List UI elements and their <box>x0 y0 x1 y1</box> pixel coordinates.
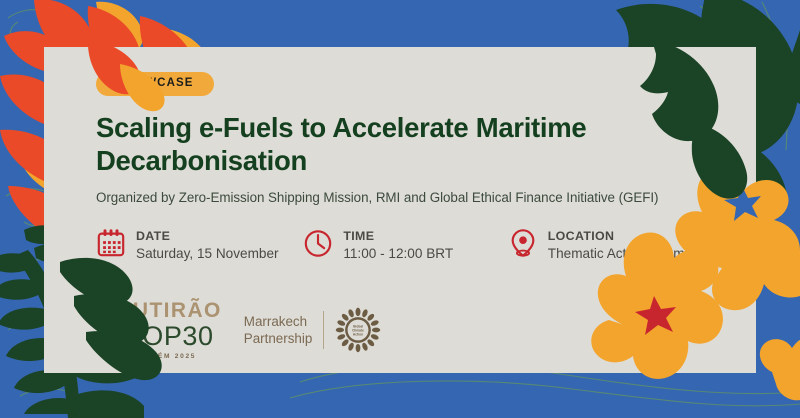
cop30-wordmark: COP30 <box>114 322 222 350</box>
marrakech-partnership-wordmark: Marrakech Partnership <box>244 313 312 347</box>
card-content: SHOWCASE Scaling e-Fuels to Accelerate M… <box>96 72 736 263</box>
marrakech-line-2: Partnership <box>244 330 312 347</box>
mutirao-wordmark: MUTIRÃO <box>114 300 222 321</box>
event-card: SHOWCASE Scaling e-Fuels to Accelerate M… <box>44 47 756 373</box>
event-date-item: DATE Saturday, 15 November <box>96 227 303 264</box>
emblem-line-3: Action <box>353 333 363 337</box>
location-pin-icon <box>508 227 538 259</box>
location-value: Thematic Action Room 4 <box>548 245 696 263</box>
time-value: 11:00 - 12:00 BRT <box>343 245 453 263</box>
belem-2025-wordmark: BELÉM 2025 <box>114 353 222 360</box>
time-label: TIME <box>343 229 453 245</box>
marrakech-line-1: Marrakech <box>244 313 312 330</box>
event-details-row: DATE Saturday, 15 November TIME 11:00 - … <box>96 227 736 264</box>
event-title: Scaling e-Fuels to Accelerate Maritime D… <box>96 111 696 177</box>
clock-icon <box>303 227 333 259</box>
calendar-icon <box>96 227 126 259</box>
event-banner: SHOWCASE Scaling e-Fuels to Accelerate M… <box>0 0 800 418</box>
event-date-text: DATE Saturday, 15 November <box>136 227 279 264</box>
event-location-item: LOCATION Thematic Action Room 4 <box>508 227 736 264</box>
showcase-badge: SHOWCASE <box>96 72 214 96</box>
date-label: DATE <box>136 229 279 245</box>
event-time-text: TIME 11:00 - 12:00 BRT <box>343 227 453 264</box>
logo-divider <box>323 311 324 349</box>
event-location-text: LOCATION Thematic Action Room 4 <box>548 227 696 264</box>
global-climate-action-emblem-icon: Global Climate Action <box>335 307 381 353</box>
event-organizers: Organized by Zero-Emission Shipping Miss… <box>96 190 736 205</box>
event-time-item: TIME 11:00 - 12:00 BRT <box>303 227 507 264</box>
cop30-logo: MUTIRÃO COP30 BELÉM 2025 <box>114 300 222 360</box>
location-label: LOCATION <box>548 229 696 245</box>
marrakech-partnership-logo: Marrakech Partnership <box>244 307 381 353</box>
date-value: Saturday, 15 November <box>136 245 279 263</box>
logo-lockup: MUTIRÃO COP30 BELÉM 2025 Marrakech Partn… <box>114 300 381 360</box>
